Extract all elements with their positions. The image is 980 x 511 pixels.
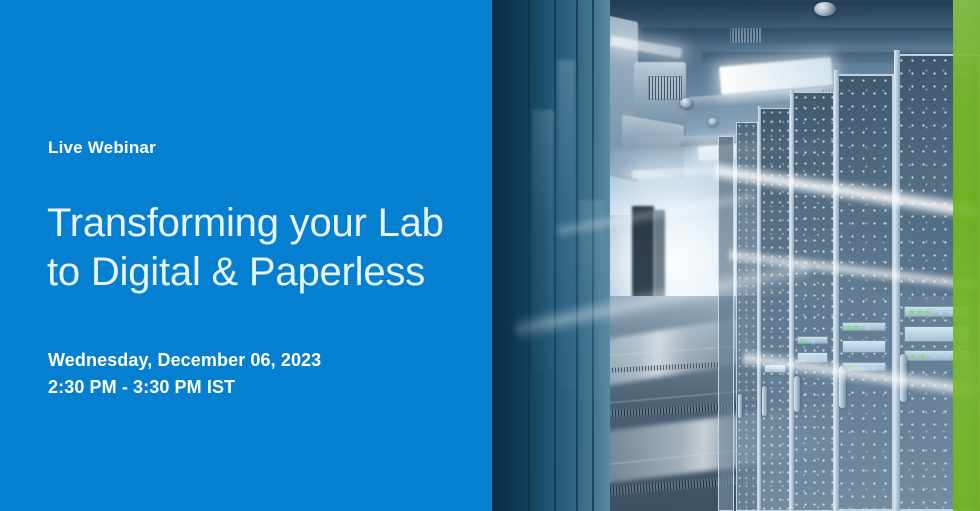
ceiling-beam bbox=[642, 28, 980, 44]
server-rack bbox=[718, 136, 734, 511]
rack-seam bbox=[576, 0, 578, 511]
rack-glass-sheen bbox=[558, 60, 575, 390]
rack-post bbox=[758, 106, 761, 511]
rack-door-handle bbox=[839, 366, 846, 408]
headline-line-2: to Digital & Paperless bbox=[47, 248, 444, 297]
rack-post bbox=[894, 50, 900, 511]
rack-frame bbox=[718, 136, 734, 511]
rack-door-handle bbox=[794, 376, 800, 412]
rack-post bbox=[834, 70, 839, 511]
event-datetime: Wednesday, December 06, 2023 2:30 PM - 3… bbox=[48, 347, 321, 402]
rack-post bbox=[790, 90, 794, 511]
rack-lcd-display bbox=[842, 340, 886, 353]
rack-frame bbox=[736, 122, 758, 511]
server-rack bbox=[792, 92, 834, 511]
headline-line-1: Transforming your Lab bbox=[47, 199, 444, 248]
rack-led-strip bbox=[797, 336, 828, 344]
rack-door-handle bbox=[762, 386, 767, 416]
dome-camera-icon bbox=[680, 98, 693, 108]
green-accent-strip bbox=[953, 0, 980, 511]
rack-door-handle bbox=[900, 354, 907, 402]
dome-camera-icon bbox=[814, 2, 836, 16]
dome-camera-icon bbox=[708, 118, 718, 126]
rack-lcd-display bbox=[764, 364, 786, 373]
ceiling-vent-grille bbox=[730, 28, 762, 43]
rack-frame bbox=[760, 108, 790, 511]
datacenter-photo bbox=[492, 0, 980, 511]
green-accent-sheen bbox=[953, 0, 980, 511]
rack-led-strip bbox=[842, 322, 886, 331]
rack-seam bbox=[554, 0, 556, 511]
photo-edge-shading bbox=[492, 0, 552, 511]
server-rack bbox=[736, 122, 758, 511]
headline: Transforming your Lab to Digital & Paper… bbox=[47, 199, 444, 297]
webinar-banner: Live Webinar Transforming your Lab to Di… bbox=[0, 0, 980, 511]
server-rack bbox=[836, 74, 894, 511]
text-panel: Live Webinar Transforming your Lab to Di… bbox=[0, 0, 492, 511]
rack-door-handle bbox=[738, 394, 742, 418]
event-date: Wednesday, December 06, 2023 bbox=[48, 347, 321, 374]
eyebrow-label: Live Webinar bbox=[48, 138, 156, 158]
rack-frame bbox=[836, 74, 894, 511]
server-rack bbox=[760, 108, 790, 511]
rack-frame bbox=[792, 92, 834, 511]
rack-glass-sheen bbox=[580, 200, 604, 400]
rack-lcd-display bbox=[797, 352, 828, 363]
event-time: 2:30 PM - 3:30 PM IST bbox=[48, 374, 321, 401]
ceiling-vent-grille bbox=[648, 76, 682, 100]
rack-led-strip bbox=[842, 362, 886, 371]
